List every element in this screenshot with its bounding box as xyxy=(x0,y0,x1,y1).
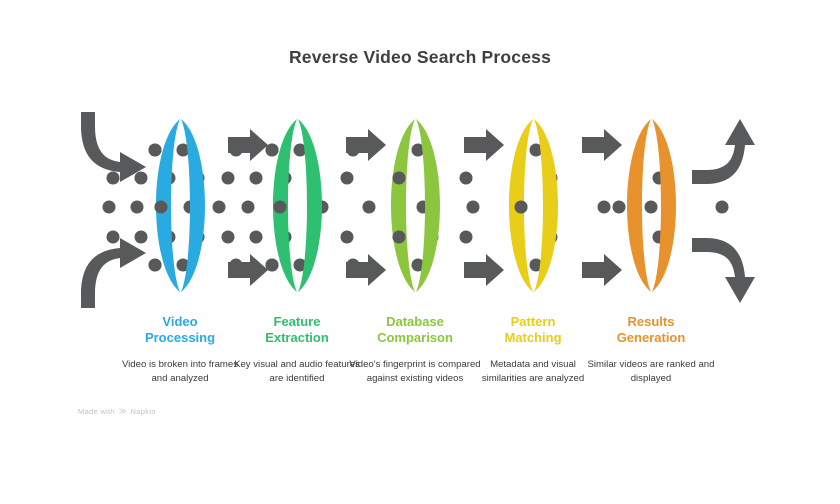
entry-arrow-top xyxy=(81,112,146,182)
arrow-right-3-bottom xyxy=(464,254,504,286)
diagram-canvas: Reverse Video Search Process xyxy=(0,0,840,504)
stage-label-5: Results Generation xyxy=(576,314,726,346)
napkin-logo-icon: ≫ xyxy=(119,406,127,417)
arrow-right-4-bottom xyxy=(582,254,622,286)
stage-description-5: Similar videos are ranked and displayed xyxy=(585,358,717,385)
stage-label-5-line2: Generation xyxy=(576,330,726,346)
entry-arrow-bottom xyxy=(81,238,146,308)
watermark: Made with ≫ Napkin xyxy=(78,406,156,417)
stage-description-2: Key visual and audio features are identi… xyxy=(231,358,363,385)
process-flow-diagram xyxy=(0,0,840,504)
stage-description-4: Metadata and visual similarities are ana… xyxy=(467,358,599,385)
arrow-right-1-bottom xyxy=(228,254,268,286)
stage-description-1: Video is broken into frames and analyzed xyxy=(114,358,246,385)
watermark-brand: Napkin xyxy=(131,407,156,416)
arrow-right-4-top xyxy=(582,129,622,161)
exit-arrow-top xyxy=(692,119,755,184)
stage-label-5-line1: Results xyxy=(576,314,726,330)
exit-arrow-bottom xyxy=(692,238,755,303)
stage-description-3: Video's fingerprint is compared against … xyxy=(349,358,481,385)
arrow-right-1-top xyxy=(228,129,268,161)
arrow-right-3-top xyxy=(464,129,504,161)
watermark-prefix: Made with xyxy=(78,407,115,416)
